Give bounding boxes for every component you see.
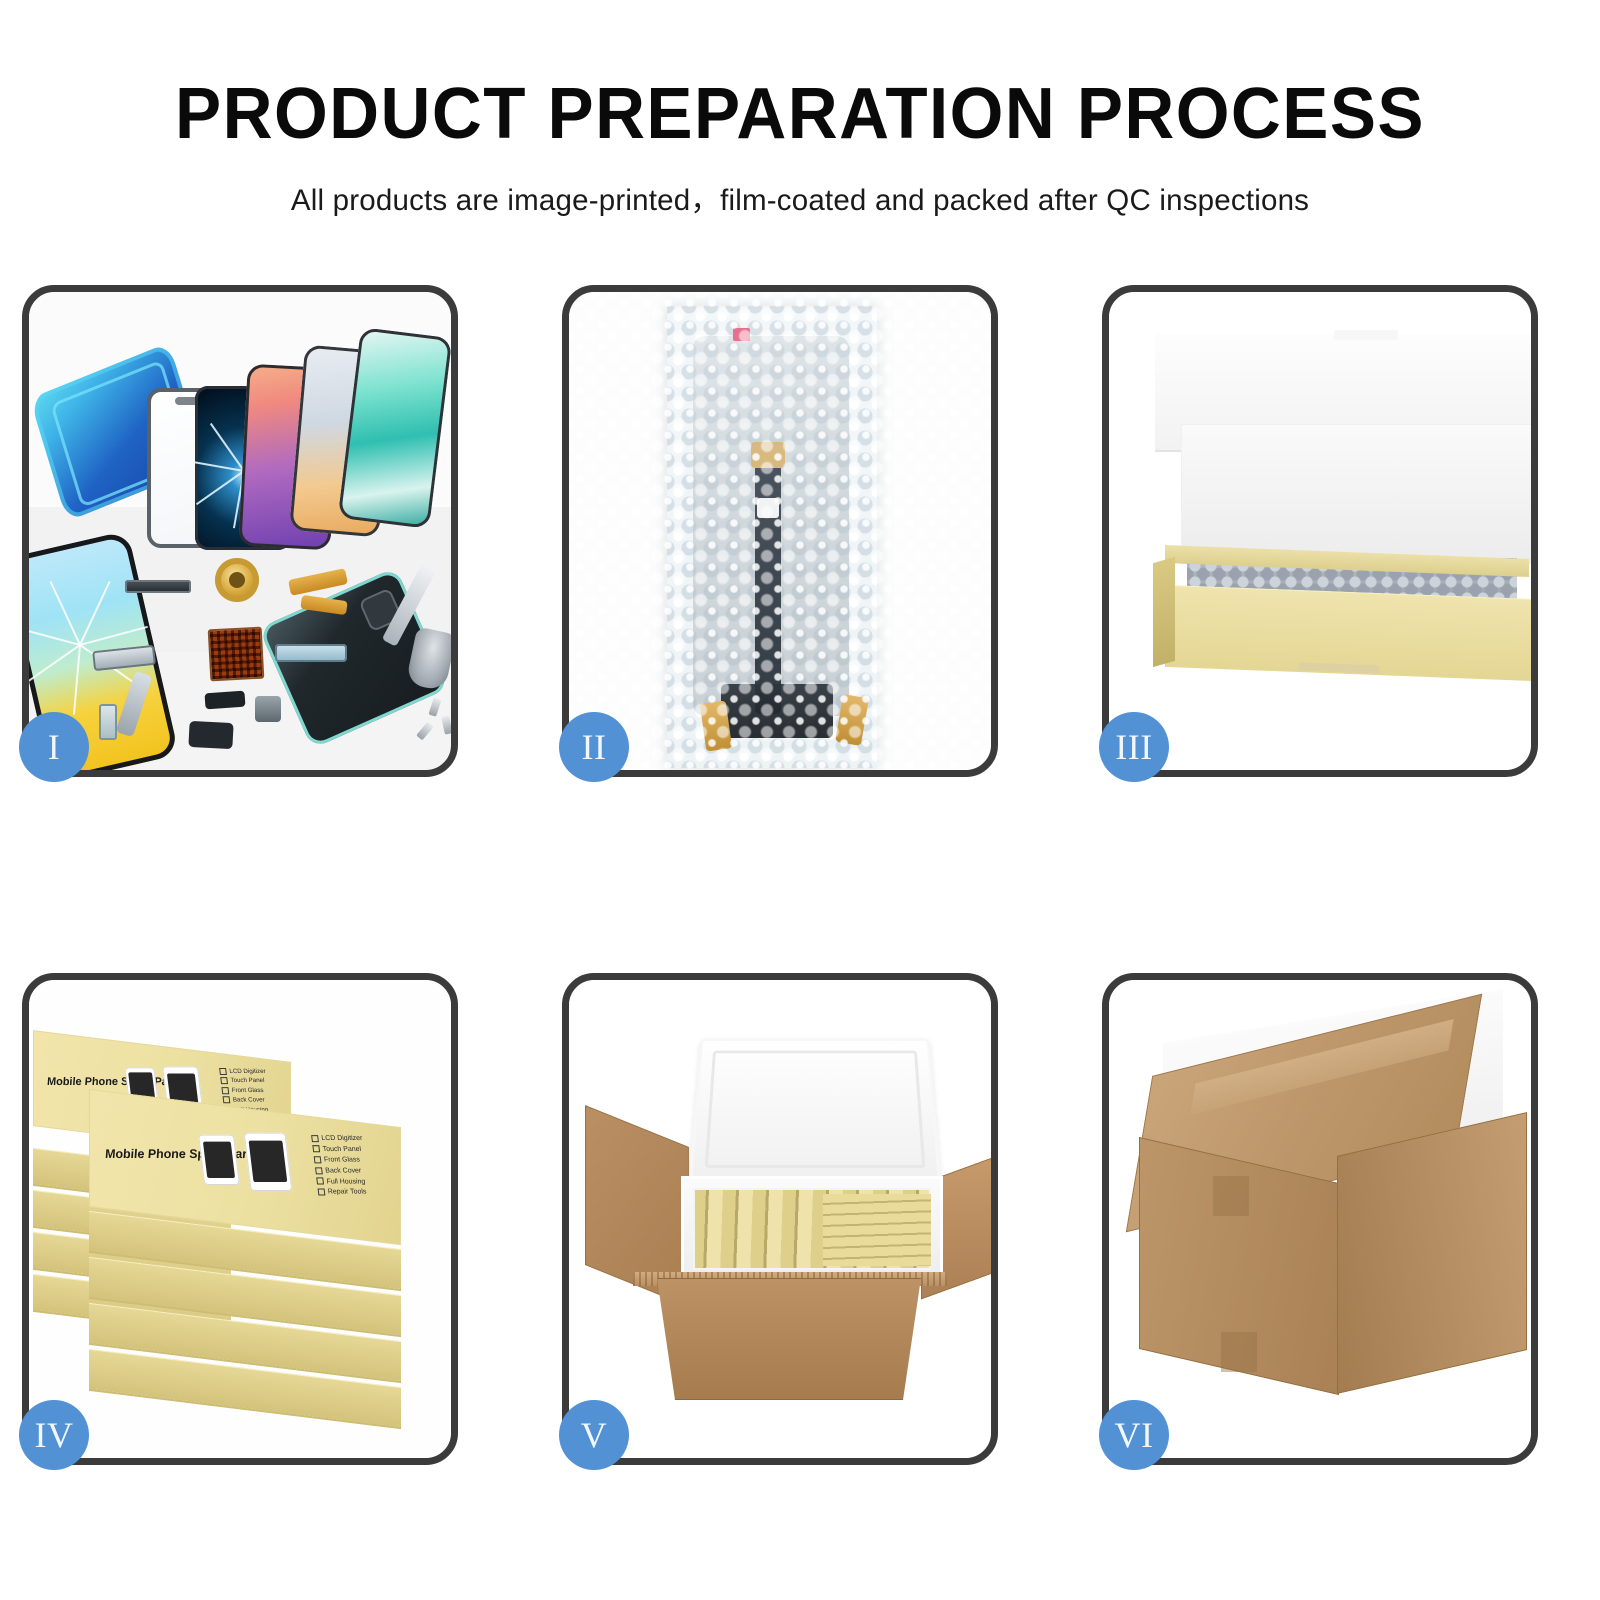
step-badge-5: V (559, 1400, 629, 1470)
product-process-infographic: PRODUCT PREPARATION PROCESS All products… (0, 0, 1600, 1600)
step-badge-3: III (1099, 712, 1169, 782)
process-step-grid: I II (22, 285, 1578, 1465)
step-2-image (569, 292, 991, 770)
screw-icon (428, 697, 441, 717)
step-panel-2: II (562, 285, 998, 777)
wireless-coil-icon (215, 558, 259, 602)
sim-tray-icon (99, 704, 117, 740)
screw-icon (416, 722, 434, 741)
box-stack: Mobile Phone Spare Parts LCD Digitizer T… (29, 980, 451, 1458)
page-subtitle: All products are image-printed，film-coat… (0, 177, 1600, 219)
checklist-item: Touch Panel (312, 1145, 364, 1156)
checklist-item: Full Housing (316, 1177, 368, 1188)
checklist-item: Repair Tools (317, 1188, 369, 1199)
step-6-image (1109, 980, 1531, 1458)
checklist-item: Back Cover (222, 1095, 269, 1104)
box-left-wall (1153, 557, 1175, 667)
checklist-item: LCD Digitizer (219, 1067, 266, 1076)
step-panel-1: I (22, 285, 458, 777)
step-panel-3: III (1102, 285, 1538, 777)
box-brand-text: Mobile Phone Spare Parts (46, 1076, 182, 1088)
checklist-item: Front Glass (221, 1086, 268, 1095)
packed-gold-boxes (693, 1188, 931, 1270)
step-4-image: Mobile Phone Spare Parts LCD Digitizer T… (29, 980, 451, 1458)
earpiece-speaker-icon (125, 580, 191, 593)
vibration-motor-icon (255, 696, 281, 722)
ic-chip-icon (208, 627, 265, 682)
checklist-item: LCD Digitizer (311, 1134, 363, 1145)
step-panel-6: VI (1102, 973, 1538, 1465)
step-1-image (29, 292, 451, 770)
step-badge-6: VI (1099, 1400, 1169, 1470)
step-panel-5: V (562, 973, 998, 1465)
step-5-image (569, 980, 991, 1458)
page-title: PRODUCT PREPARATION PROCESS (32, 78, 1568, 151)
connector-block (721, 684, 833, 738)
step-badge-4: IV (19, 1400, 89, 1470)
camera-module-icon (204, 691, 245, 710)
box-lid-front-panel (1181, 424, 1531, 564)
checklist-item: Front Glass (314, 1156, 366, 1167)
flex-cable-blue-icon (275, 644, 347, 662)
box-phone-thumbnail (198, 1135, 240, 1185)
step-badge-1: I (19, 712, 89, 782)
carton-right-face (1337, 1112, 1527, 1394)
loudspeaker-icon (188, 721, 233, 749)
step-3-image (1109, 292, 1531, 770)
step-badge-2: II (559, 712, 629, 782)
header: PRODUCT PREPARATION PROCESS All products… (0, 0, 1600, 219)
carton-body (639, 1278, 939, 1400)
box-phone-thumbnail (244, 1133, 293, 1191)
carton-tape-tab (1221, 1332, 1257, 1372)
foam-lid (689, 1038, 941, 1183)
checklist-item: Back Cover (315, 1166, 367, 1177)
driver-ic (757, 498, 779, 518)
carton-tape-tab (1213, 1176, 1249, 1216)
pink-label-sticker (733, 328, 750, 341)
screw-icon (441, 715, 451, 734)
box-checklist: LCD Digitizer Touch Panel Front Glass Ba… (311, 1134, 370, 1198)
checklist-item: Touch Panel (220, 1076, 267, 1085)
step-panel-4: Mobile Phone Spare Parts LCD Digitizer T… (22, 973, 458, 1465)
